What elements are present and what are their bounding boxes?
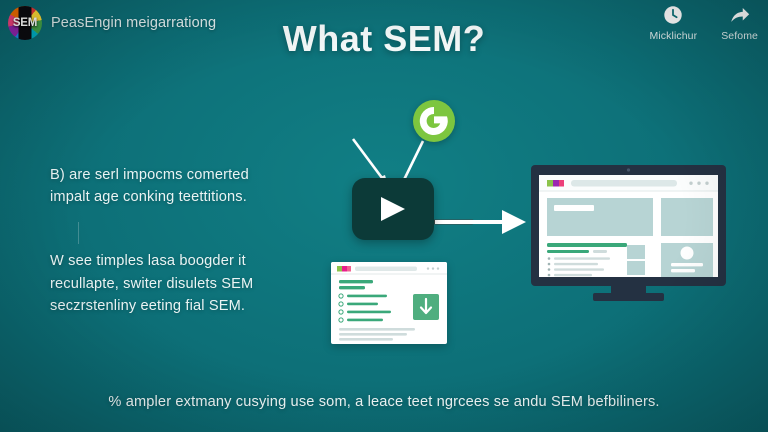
desktop-monitor-icon [531,165,726,305]
action-share-label: Sefome [721,30,758,42]
clock-icon [662,4,684,26]
paragraph-two-line-3: seczrstenliny eeting fial SEM. [50,295,300,317]
play-triangle-icon [381,197,405,221]
google-g-refresh-icon [413,100,455,142]
top-actions: Micklichur Sefome [650,4,758,42]
paragraph-two-line-1: W see timples lasa boogder it [50,250,300,272]
share-arrow-icon [729,4,751,26]
right-arrow-head-icon [502,210,526,234]
video-play-card[interactable] [352,178,434,240]
paragraph-one: B) are serl impocms comerted impalt age … [50,164,300,208]
paragraph-one-line-1: B) are serl impocms comerted [50,164,300,186]
paragraph-two: W see timples lasa boogder it recullapte… [50,250,300,317]
brand-logo-text: SEM [8,6,42,40]
action-share[interactable]: Sefome [721,4,758,42]
top-bar: SEM PeasEngin meigarrationg Micklichur S… [0,0,768,46]
video-slide: SEM PeasEngin meigarrationg Micklichur S… [0,0,768,432]
brand-title: PeasEngin meigarrationg [51,15,216,31]
browser-window-icon [331,262,447,344]
action-history-label: Micklichur [650,30,698,42]
bottom-caption: % ampler extmany cusying use som, a leac… [0,394,768,410]
copy-divider [78,222,79,244]
paragraph-two-line-2: recullapte, switer disulets SEM [50,273,300,295]
left-copy: B) are serl impocms comerted impalt age … [50,164,300,317]
paragraph-one-line-2: impalt age conking teettitions. [50,186,300,208]
brand[interactable]: SEM PeasEngin meigarrationg [8,6,216,40]
action-history[interactable]: Micklichur [650,4,698,42]
sem-color-wheel-logo-icon: SEM [8,6,42,40]
